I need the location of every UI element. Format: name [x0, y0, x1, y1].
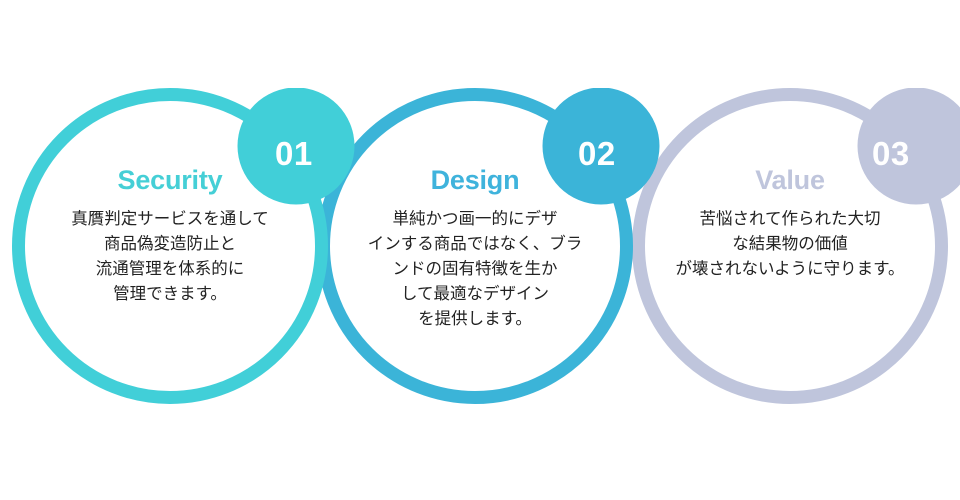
step-1-content: Security 真贋判定サービスを通して 商品偽変造防止と 流通管理を体系的に…	[20, 167, 320, 307]
step-2-content: Design 単純かつ画一的にデザ インする商品ではなく、ブラ ンドの固有特徴を…	[325, 167, 625, 332]
text-layer: Security 真贋判定サービスを通して 商品偽変造防止と 流通管理を体系的に…	[0, 0, 960, 500]
step-1-badge-number: 01	[275, 137, 313, 170]
step-2-description: 単純かつ画一的にデザ インする商品ではなく、ブラ ンドの固有特徴を生か して最適…	[325, 207, 625, 332]
step-3-description: 苦悩されて作られた大切 な結果物の価値 が壊されないように守ります。	[640, 207, 940, 282]
step-1-description: 真贋判定サービスを通して 商品偽変造防止と 流通管理を体系的に 管理できます。	[20, 207, 320, 307]
step-3-badge-number: 03	[872, 137, 910, 170]
step-2-badge-number: 02	[578, 137, 616, 170]
step-3-content: Value 苦悩されて作られた大切 な結果物の価値 が壊されないように守ります。	[640, 167, 940, 282]
three-step-circle-infographic: Security 真贋判定サービスを通して 商品偽変造防止と 流通管理を体系的に…	[0, 0, 960, 500]
